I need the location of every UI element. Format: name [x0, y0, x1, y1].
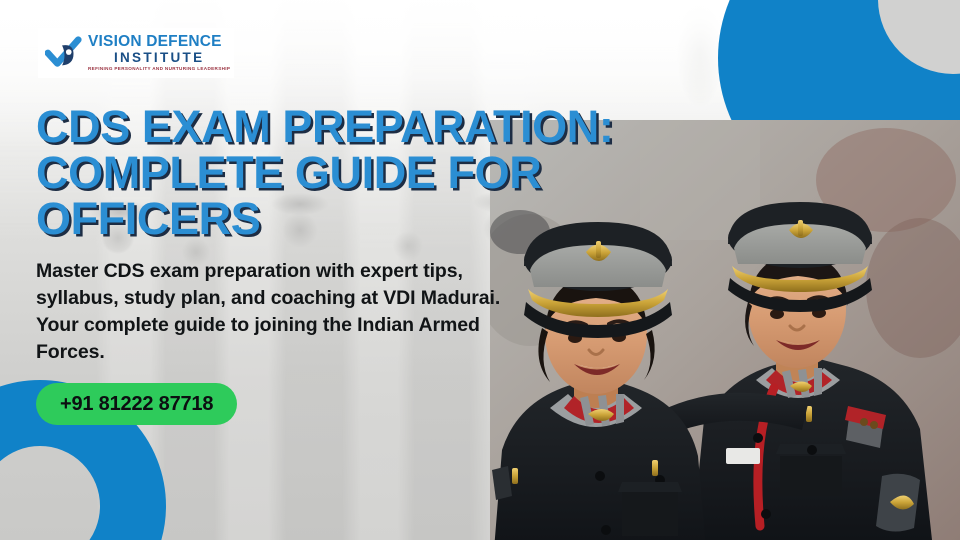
checkmark-shield-icon	[45, 34, 83, 72]
promotional-banner: VISION DEFENCE INSTITUTE REFINING PERSON…	[0, 0, 960, 540]
brand-logo-text: VISION DEFENCE INSTITUTE REFINING PERSON…	[88, 34, 230, 72]
phone-cta-button[interactable]: +91 81222 87718	[36, 383, 237, 425]
page-title: CDS Exam Preparation: Complete Guide for…	[36, 104, 656, 242]
brand-logo[interactable]: VISION DEFENCE INSTITUTE REFINING PERSON…	[38, 28, 234, 78]
hero-subheadline: Master CDS exam preparation with expert …	[36, 258, 536, 366]
brand-name-line1: VISION DEFENCE	[88, 34, 230, 50]
brand-name-line2: INSTITUTE	[88, 51, 230, 65]
brand-tagline: REFINING PERSONALITY AND NURTURING LEADE…	[88, 67, 230, 72]
